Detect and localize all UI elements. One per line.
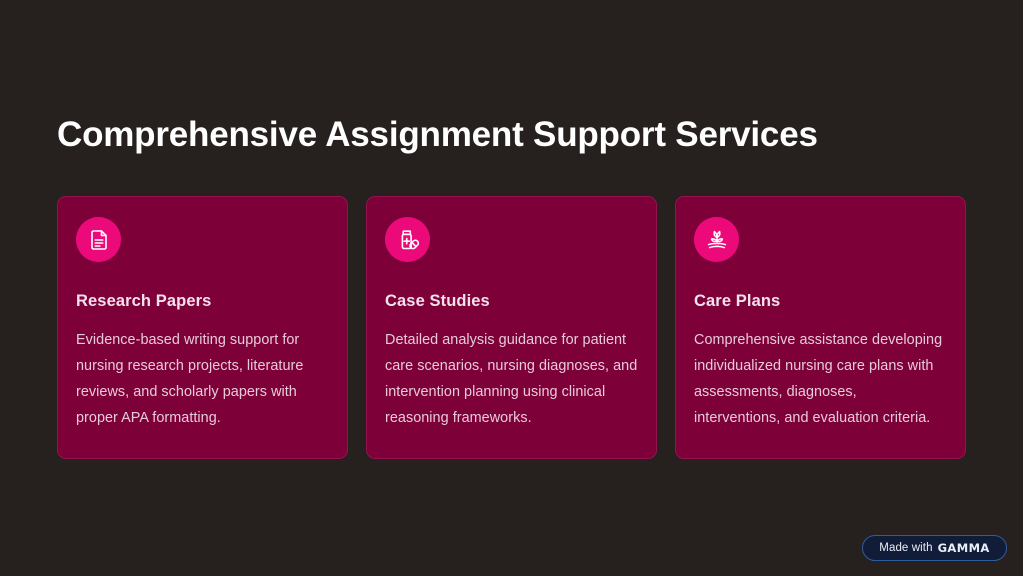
service-card-description: Detailed analysis guidance for patient c… xyxy=(385,327,638,431)
made-with-gamma-badge[interactable]: Made with GAMMA xyxy=(862,535,1007,561)
pill-bottle-icon xyxy=(385,217,430,262)
service-card-research-papers[interactable]: Research Papers Evidence-based writing s… xyxy=(57,196,348,459)
document-icon xyxy=(76,217,121,262)
service-card-case-studies[interactable]: Case Studies Detailed analysis guidance … xyxy=(366,196,657,459)
page-title: Comprehensive Assignment Support Service… xyxy=(57,112,957,158)
sprout-icon xyxy=(694,217,739,262)
made-with-label: Made with xyxy=(879,542,932,554)
service-card-description: Comprehensive assistance developing indi… xyxy=(694,327,947,431)
service-cards-row: Research Papers Evidence-based writing s… xyxy=(57,196,966,459)
gamma-wordmark: GAMMA xyxy=(938,541,990,555)
service-card-title: Case Studies xyxy=(385,291,638,311)
slide-canvas: Comprehensive Assignment Support Service… xyxy=(0,0,1023,576)
service-card-description: Evidence-based writing support for nursi… xyxy=(76,327,329,431)
service-card-title: Research Papers xyxy=(76,291,329,311)
service-card-care-plans[interactable]: Care Plans Comprehensive assistance deve… xyxy=(675,196,966,459)
service-card-title: Care Plans xyxy=(694,291,947,311)
